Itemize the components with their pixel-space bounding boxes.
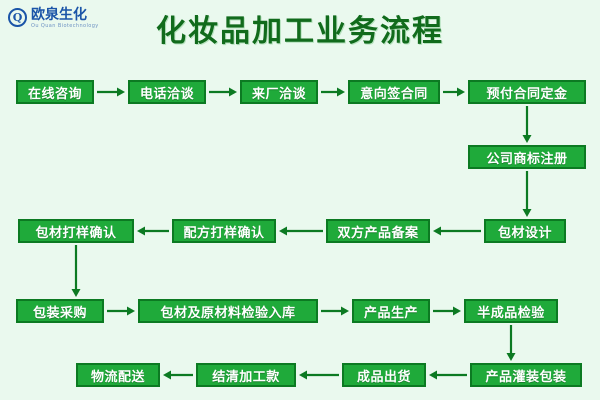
flow-node-n4: 意向签合同 bbox=[348, 80, 440, 104]
arrow-n8-to-n9 bbox=[279, 225, 323, 237]
flow-node-label: 公司商标注册 bbox=[486, 148, 567, 167]
arrow-n16-to-n17 bbox=[299, 369, 339, 381]
flow-node-n16: 成品出货 bbox=[342, 363, 426, 387]
arrow-n4-to-n5 bbox=[443, 86, 465, 98]
arrow-n9-to-n10 bbox=[137, 225, 169, 237]
flow-node-n14: 半成品检验 bbox=[464, 299, 558, 323]
flow-node-n9: 配方打样确认 bbox=[172, 219, 276, 243]
flow-node-label: 结清加工款 bbox=[212, 366, 280, 385]
flow-node-label: 双方产品备案 bbox=[337, 222, 418, 241]
flow-node-n5: 预付合同定金 bbox=[468, 80, 586, 104]
flow-node-n11: 包装采购 bbox=[16, 299, 104, 323]
flow-node-label: 来厂洽谈 bbox=[252, 83, 306, 102]
arrow-n11-to-n12 bbox=[107, 305, 135, 317]
flow-node-label: 包材设计 bbox=[498, 222, 552, 241]
arrow-n2-to-n3 bbox=[209, 86, 237, 98]
arrow-n1-to-n2 bbox=[97, 86, 125, 98]
flow-node-n10: 包材打样确认 bbox=[18, 219, 134, 243]
arrow-n10-to-n11 bbox=[70, 245, 82, 297]
flow-node-n12: 包材及原材料检验入库 bbox=[138, 299, 318, 323]
arrow-n5-to-n6 bbox=[521, 106, 533, 143]
flowchart-canvas: Q 欧泉生化 Ou Quan Biotechnology 化妆品加工业务流程 在… bbox=[0, 0, 600, 400]
arrow-n14-to-n15 bbox=[505, 325, 517, 361]
flow-node-n8: 双方产品备案 bbox=[326, 219, 430, 243]
flow-node-n6: 公司商标注册 bbox=[468, 145, 586, 169]
flow-node-n3: 来厂洽谈 bbox=[240, 80, 318, 104]
arrow-n6-to-n7 bbox=[521, 171, 533, 217]
flow-node-label: 产品灌装包装 bbox=[485, 366, 566, 385]
flow-node-n1: 在线咨询 bbox=[16, 80, 94, 104]
flow-node-label: 物流配送 bbox=[91, 366, 145, 385]
flow-node-n7: 包材设计 bbox=[484, 219, 566, 243]
flow-node-n18: 物流配送 bbox=[76, 363, 160, 387]
flow-node-label: 包材及原材料检验入库 bbox=[160, 302, 295, 321]
page-title: 化妆品加工业务流程 bbox=[0, 6, 600, 50]
flow-node-label: 意向签合同 bbox=[360, 83, 428, 102]
flow-node-label: 电话洽谈 bbox=[140, 83, 194, 102]
flow-node-label: 在线咨询 bbox=[28, 83, 82, 102]
arrow-n3-to-n4 bbox=[321, 86, 345, 98]
flow-node-label: 配方打样确认 bbox=[183, 222, 264, 241]
flow-node-label: 包装采购 bbox=[33, 302, 87, 321]
arrow-n17-to-n18 bbox=[163, 369, 193, 381]
flow-node-label: 成品出货 bbox=[357, 366, 411, 385]
flow-node-n17: 结清加工款 bbox=[196, 363, 296, 387]
flow-node-label: 产品生产 bbox=[364, 302, 418, 321]
flow-node-n2: 电话洽谈 bbox=[128, 80, 206, 104]
flow-node-n13: 产品生产 bbox=[352, 299, 430, 323]
flow-node-label: 预付合同定金 bbox=[486, 83, 567, 102]
arrow-n7-to-n8 bbox=[433, 225, 481, 237]
flow-node-n15: 产品灌装包装 bbox=[470, 363, 582, 387]
arrow-n15-to-n16 bbox=[429, 369, 467, 381]
flow-node-label: 包材打样确认 bbox=[35, 222, 116, 241]
arrow-n12-to-n13 bbox=[321, 305, 349, 317]
arrow-n13-to-n14 bbox=[433, 305, 461, 317]
flow-node-label: 半成品检验 bbox=[477, 302, 545, 321]
